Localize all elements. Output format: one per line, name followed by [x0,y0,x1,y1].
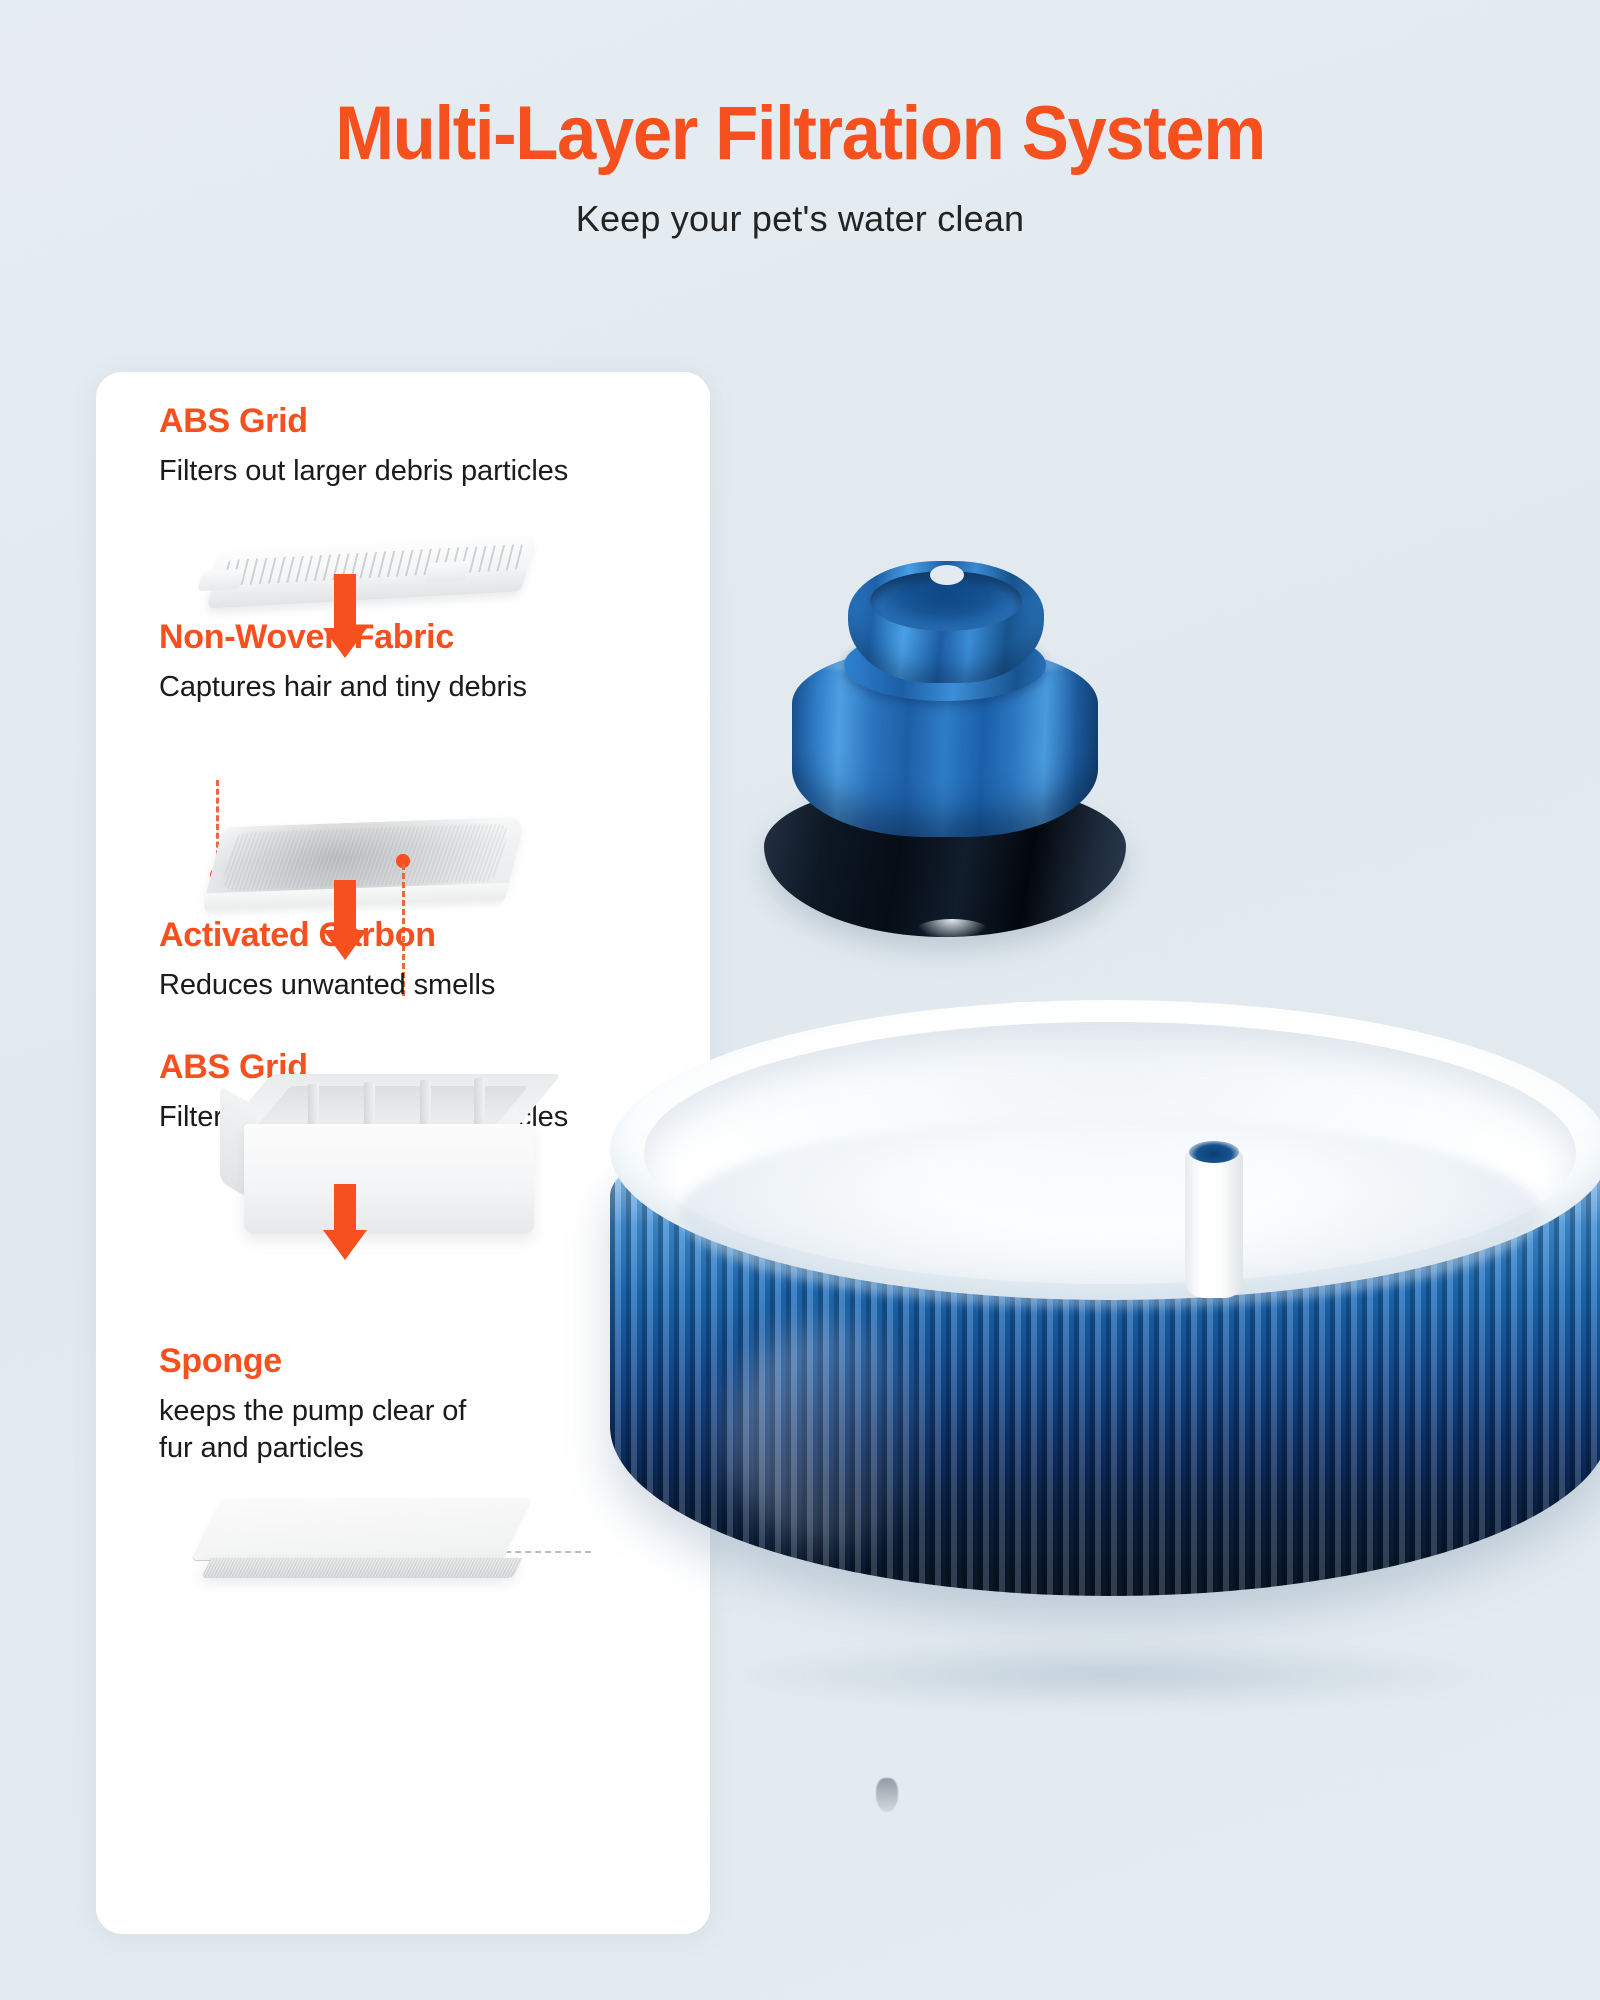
fountain-cup-notch [930,565,964,585]
ceramic-bowl [610,1000,1600,1780]
layer-title: Non-Woven Fabric [96,620,710,656]
flow-arrow-shaft [334,1184,356,1234]
pump-cord-tip [876,1778,898,1812]
sponge-side-face [201,1558,523,1578]
abs-grid-tab-right [423,561,471,583]
layer-title: Activated Carbon [96,918,710,954]
layer-description: Filters out larger debris particles [96,453,710,490]
layer-description: keeps the pump clear of fur and particle… [96,1393,496,1467]
page-title: Multi-Layer Filtration System [56,96,1544,172]
abs-box-rib [420,1080,431,1128]
fountain-top-assembly [740,555,1160,945]
abs-box-rib [364,1082,375,1130]
bowl-drop-shadow [730,1640,1490,1710]
page-subtitle: Keep your pet's water clean [0,198,1600,240]
abs-grid-panel [207,535,536,608]
bowl-water-tube [1185,1150,1243,1298]
abs-grid-tab-left [197,569,245,591]
layer-description: Reduces unwanted smells [96,967,710,1004]
layer-description: Captures hair and tiny debris [96,669,710,706]
abs-box-front-face [244,1124,534,1234]
bowl-interior-shading [680,1118,1540,1308]
flow-arrow-head [323,1230,367,1260]
sponge-top-face [191,1498,533,1560]
non-woven-fabric-sheet [202,817,525,909]
layer-item-activated-carbon: Activated Carbon Reduces unwanted smells [96,918,710,1004]
product-photo [720,400,1600,1880]
layer-title: ABS Grid [96,404,710,440]
layer-item-abs-grid-top: ABS Grid Filters out larger debris parti… [96,404,710,490]
bowl-gloss-highlight [730,1320,930,1550]
layer-item-non-woven-fabric: Non-Woven Fabric Captures hair and tiny … [96,620,710,706]
bowl-outer [610,1000,1600,1680]
page-header: Multi-Layer Filtration System Keep your … [0,0,1600,240]
abs-box-rib [474,1078,485,1126]
